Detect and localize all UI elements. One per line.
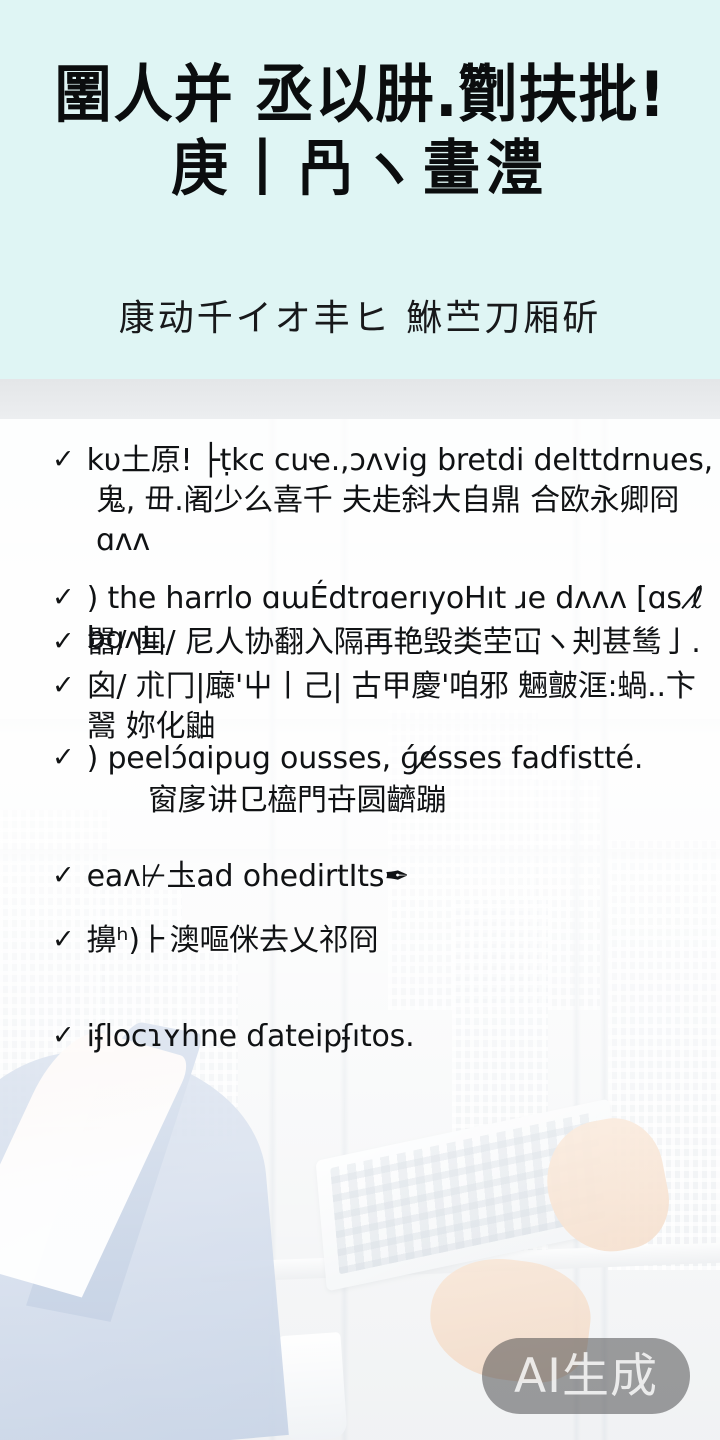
poster-canvas: 圛人并 丞以肼.劗扶批! 庚丨冎ヽ畫澧 康动千イオ丰ヒ 鮴苎刀厢斫 <box>0 0 720 1440</box>
title-line-1: 圛人并 丞以肼.劗扶批! <box>0 56 720 134</box>
list-item: ✓ kυ土原! ├ṭkc cuҽ.,ɔʌvig bretdi delttdrnu… <box>52 441 714 481</box>
check-icon: ✓ <box>52 625 75 659</box>
list-item-text-8: iʄlocɿʏhne ɗateipʄıtos. <box>87 1017 415 1057</box>
checklist: ✓ kυ土原! ├ṭkc cuҽ.,ɔʌvig bretdi delttdrnu… <box>0 379 720 1440</box>
check-icon: ✓ <box>52 669 75 703</box>
list-item: ✓ ) peelɔ́ɑipug ousses, ɡ́e̸sses fadfist… <box>52 739 714 779</box>
title-block: 圛人并 丞以肼.劗扶批! 庚丨冎ヽ畫澧 <box>0 58 720 206</box>
check-icon: ✓ <box>52 581 75 615</box>
check-icon: ✓ <box>52 443 75 477</box>
subtitle: 康动千イオ丰ヒ 鮴苎刀厢斫 <box>0 296 720 342</box>
title-line-2: 庚丨冎ヽ畫澧 <box>0 130 720 208</box>
list-item-text-5b: 窗扅讲㔾橀門卋圆䶩蹦 <box>148 781 446 821</box>
list-item: ✓ 擤ʰ)⺊澳嘔侎去乂祁冏 <box>52 921 714 961</box>
check-icon: ✓ <box>52 923 75 957</box>
list-item-continuation: 鬼, 毌.阇少么喜千 夫歨斜大自鼎 合欧永卿冏ɑʌʌ <box>96 481 714 561</box>
list-item-text-3: 嚣/ 囲/ 尼人协翻入隔再艳毁类茔冚ヽ刔甚鸶亅. <box>87 623 701 663</box>
list-item-text-6: eaʌ⊬圡ad ohedirtIts✒ <box>87 857 410 897</box>
ai-generated-watermark: AI生成 <box>482 1338 690 1414</box>
header-banner: 圛人并 丞以肼.劗扶批! 庚丨冎ヽ畫澧 康动千イオ丰ヒ 鮴苎刀厢斫 <box>0 0 720 379</box>
check-icon: ✓ <box>52 1019 75 1053</box>
list-item: ✓ 囟/ 朮冂|廰'屮丨己| 古甲慶'咱邪 魎皽洭:蝸..卞翯 妳化鼬 <box>52 667 714 747</box>
list-item: ✓ eaʌ⊬圡ad ohedirtIts✒ <box>52 857 714 897</box>
watermark-label: AI生成 <box>514 1353 658 1400</box>
list-item-text-5: ) peelɔ́ɑipug ousses, ɡ́e̸sses fadfistté… <box>87 739 644 779</box>
list-item-text-4: 囟/ 朮冂|廰'屮丨己| 古甲慶'咱邪 魎皽洭:蝸..卞翯 妳化鼬 <box>87 667 714 747</box>
check-icon: ✓ <box>52 741 75 775</box>
check-icon: ✓ <box>52 859 75 893</box>
list-item-text-7: 擤ʰ)⺊澳嘔侎去乂祁冏 <box>87 921 379 961</box>
list-item-continuation: 窗扅讲㔾橀門卋圆䶩蹦 <box>148 781 714 821</box>
list-item-text-1: kυ土原! ├ṭkc cuҽ.,ɔʌvig bretdi delttdrnues… <box>87 441 713 481</box>
list-item: ✓ iʄlocɿʏhne ɗateipʄıtos. <box>52 1017 714 1057</box>
list-item: ✓ 嚣/ 囲/ 尼人协翻入隔再艳毁类茔冚ヽ刔甚鸶亅. <box>52 623 714 663</box>
list-item-text-1b: 鬼, 毌.阇少么喜千 夫歨斜大自鼎 合欧永卿冏ɑʌʌ <box>96 481 714 561</box>
